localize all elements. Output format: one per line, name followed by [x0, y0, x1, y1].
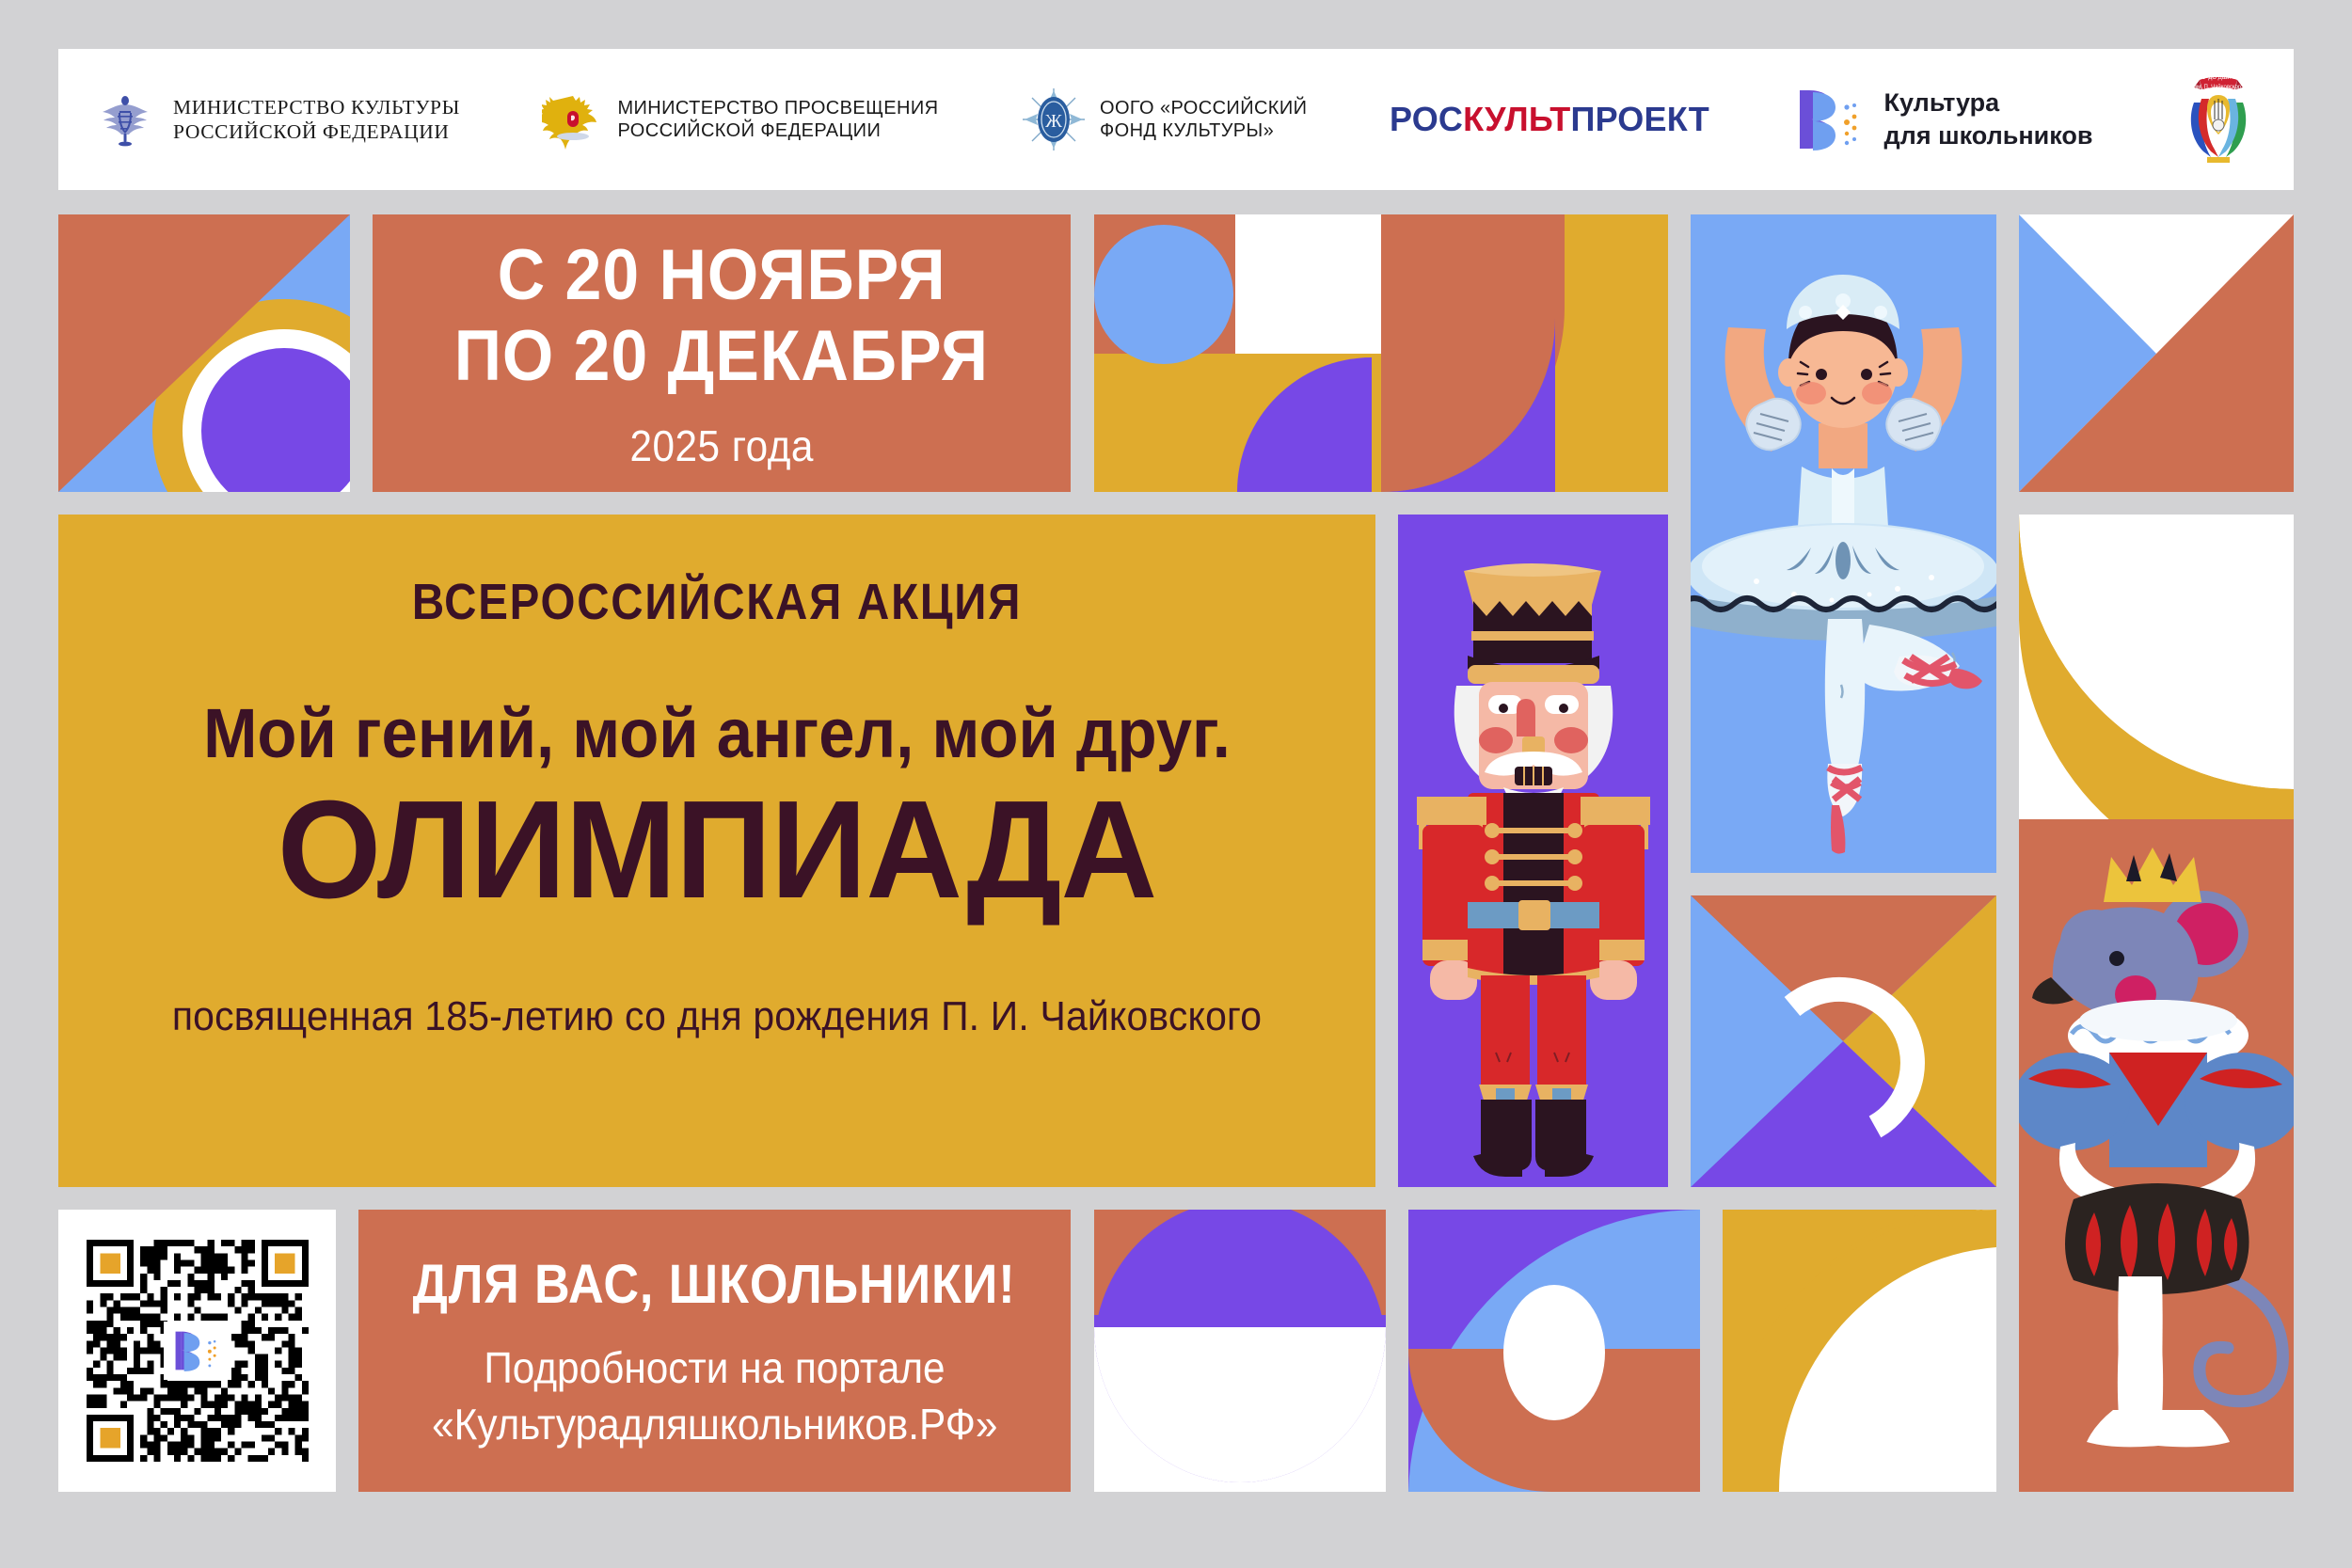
russian-coat-of-arms-icon [542, 88, 604, 150]
decor-tile-geometric-4 [1723, 1210, 1996, 1492]
logo-kultura-dlya-shkolnikov-label: Культура для школьников [1884, 87, 2093, 152]
decor-tile-geometric-1 [1094, 214, 1668, 492]
partner-logos-header: МИНИСТЕРСТВО КУЛЬТУРЫ РОССИЙСКОЙ ФЕДЕРАЦ… [58, 49, 2294, 190]
decor-tile-concentric-circles [58, 214, 350, 492]
call-to-action-tile: ДЛЯ ВАС, ШКОЛЬНИКИ! Подробности на порта… [358, 1210, 1071, 1492]
qr-code[interactable] [87, 1240, 309, 1462]
logo-ministry-of-culture: МИНИСТЕРСТВО КУЛЬТУРЫ РОССИЙСКОЙ ФЕДЕРАЦ… [90, 85, 460, 154]
logo-dshi-tchaikovsky: МБУ ДО ДШИ №1 им. П. Чайковского [2175, 71, 2262, 168]
title-line-2: ОЛИМПИАДА [134, 781, 1300, 920]
roskultproekt-part-3: ПРОЕКТ [1571, 100, 1710, 138]
svg-text:Ж: Ж [1045, 111, 1062, 132]
svg-text:им. П. Чайковского: им. П. Чайковского [2194, 84, 2244, 90]
qr-code-tile[interactable] [58, 1210, 336, 1492]
roskultproekt-part-2: КУЛЬТ [1463, 100, 1570, 138]
logo-ministry-of-education-label: МИНИСТЕРСТВО ПРОСВЕЩЕНИЯ РОССИЙСКОЙ ФЕДЕ… [617, 97, 938, 143]
cta-heading: ДЛЯ ВАС, ШКОЛЬНИКИ! [413, 1253, 1016, 1316]
ministry-of-culture-emblem-icon [90, 85, 160, 154]
ballerina-illustration [1691, 214, 1996, 873]
poster: МИНИСТЕРСТВО КУЛЬТУРЫ РОССИЙСКОЙ ФЕДЕРАЦ… [0, 0, 2352, 1568]
svg-text:МБУ ДО ДШИ №1: МБУ ДО ДШИ №1 [2195, 74, 2243, 81]
logo-russian-culture-fund-label: ООГО «РОССИЙСКИЙ ФОНД КУЛЬТУРЫ» [1100, 97, 1307, 143]
kultura-dlya-shkolnikov-mark-icon [1792, 85, 1869, 154]
dshi-tchaikovsky-emblem-icon: МБУ ДО ДШИ №1 им. П. Чайковского [2175, 71, 2262, 168]
logo-ministry-of-culture-label: МИНИСТЕРСТВО КУЛЬТУРЫ РОССИЙСКОЙ ФЕДЕРАЦ… [173, 95, 460, 144]
logo-kultura-dlya-shkolnikov: Культура для школьников [1792, 85, 2093, 154]
event-dates-tile: С 20 НОЯБРЯ ПО 20 ДЕКАБРЯ 2025 года [373, 214, 1071, 492]
date-line-2: ПО 20 ДЕКАБРЯ [454, 316, 989, 396]
decor-tile-geometric-2 [1094, 1210, 1386, 1492]
main-title-tile: ВСЕРОССИЙСКАЯ АКЦИЯ Мой гений, мой ангел… [58, 515, 1375, 1187]
subtitle-text: посвященная 185-летию со дня рождения П.… [151, 993, 1282, 1040]
date-year: 2025 года [629, 420, 813, 471]
cta-line-1: Подробности на портале [484, 1342, 945, 1393]
qr-center-logo [164, 1322, 231, 1380]
roskultproekt-part-1: РОС [1390, 100, 1463, 138]
decor-tile-triangles-1 [2019, 214, 2294, 492]
decor-tile-geometric-3 [1408, 1210, 1700, 1492]
cta-portal-name[interactable]: «Культурадляшкольников.РФ» [432, 1399, 997, 1449]
mouse-king-illustration [2019, 819, 2294, 1492]
logo-ministry-of-education: МИНИСТЕРСТВО ПРОСВЕЩЕНИЯ РОССИЙСКОЙ ФЕДЕ… [542, 88, 938, 150]
date-line-1: С 20 НОЯБРЯ [498, 235, 946, 315]
kicker-text: ВСЕРОССИЙСКАЯ АКЦИЯ [183, 573, 1252, 631]
russian-culture-fund-emblem-icon: Ж [1021, 87, 1087, 152]
logo-russian-culture-fund: Ж ООГО «РОССИЙСКИЙ ФОНД КУЛЬТУРЫ» [1021, 87, 1307, 152]
decor-tile-triangles-ring [1691, 895, 1996, 1187]
title-line-1: Мой гений, мой ангел, мой друг. [151, 693, 1282, 773]
nutcracker-illustration [1398, 515, 1668, 1187]
logo-roskultproekt: РОСКУЛЬТПРОЕКТ [1390, 100, 1709, 139]
